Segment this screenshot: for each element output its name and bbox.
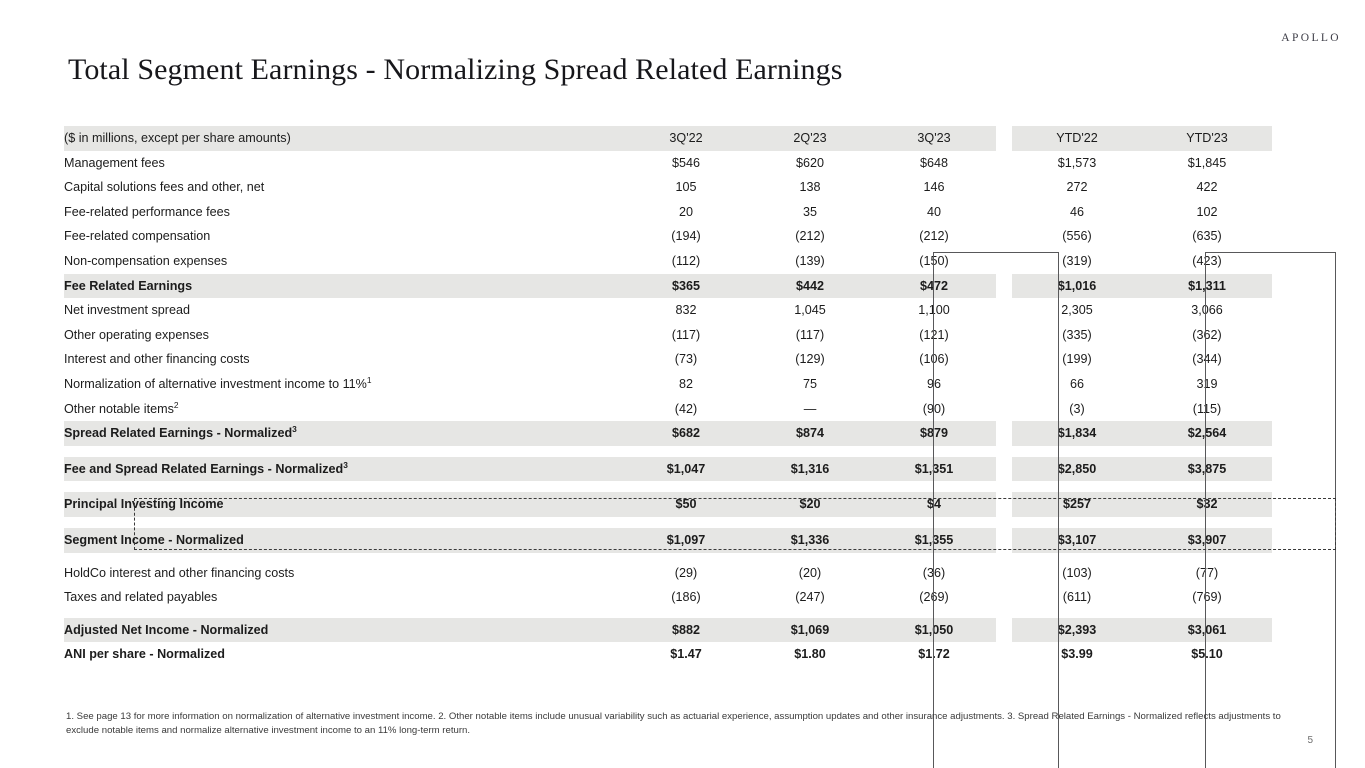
spacer-cell <box>64 446 624 457</box>
cell-ytd23: 319 <box>1142 372 1272 397</box>
spacer-cell <box>64 481 624 492</box>
table-row: Fee and Spread Related Earnings - Normal… <box>64 457 1272 482</box>
column-gap <box>996 528 1012 553</box>
cell-3q23: $472 <box>872 274 996 299</box>
spacer-cell <box>748 481 872 492</box>
row-label: Taxes and related payables <box>64 585 624 610</box>
cell-3q23: $1,050 <box>872 618 996 643</box>
cell-3q22: $546 <box>624 151 748 176</box>
row-label: Fee and Spread Related Earnings - Normal… <box>64 457 624 482</box>
column-gap <box>996 457 1012 482</box>
cell-2q23: 138 <box>748 175 872 200</box>
cell-ytd22: $2,393 <box>1012 618 1142 643</box>
footnote-marker: 2 <box>174 399 179 409</box>
row-label: Non-compensation expenses <box>64 249 624 274</box>
cell-ytd22: 66 <box>1012 372 1142 397</box>
column-gap <box>996 298 1012 323</box>
spacer-cell <box>748 517 872 528</box>
page-title: Total Segment Earnings - Normalizing Spr… <box>68 53 843 87</box>
footnote-marker: 3 <box>292 424 297 434</box>
table-row: Normalization of alternative investment … <box>64 372 1272 397</box>
spacer-cell <box>996 446 1012 457</box>
footnote-marker: 3 <box>343 460 348 470</box>
table-row: Interest and other financing costs(73)(1… <box>64 347 1272 372</box>
cell-3q23: 146 <box>872 175 996 200</box>
row-label: Adjusted Net Income - Normalized <box>64 618 624 643</box>
cell-ytd23: $1,845 <box>1142 151 1272 176</box>
cell-2q23: 75 <box>748 372 872 397</box>
page-number: 5 <box>1307 735 1313 746</box>
cell-3q23: (269) <box>872 585 996 610</box>
spacer-cell <box>624 553 748 561</box>
spacer-cell <box>872 446 996 457</box>
cell-2q23: (139) <box>748 249 872 274</box>
cell-ytd22: 2,305 <box>1012 298 1142 323</box>
cell-ytd22: (103) <box>1012 561 1142 586</box>
row-label: Normalization of alternative investment … <box>64 372 624 397</box>
column-gap <box>996 585 1012 610</box>
cell-ytd22: $1,834 <box>1012 421 1142 446</box>
cell-3q22: $882 <box>624 618 748 643</box>
spacer-cell <box>872 610 996 618</box>
apollo-logo: APOLLO <box>1281 32 1341 44</box>
column-gap <box>996 397 1012 422</box>
cell-3q23: (90) <box>872 397 996 422</box>
cell-3q23: $1.72 <box>872 642 996 667</box>
cell-3q23: $879 <box>872 421 996 446</box>
slide-canvas: APOLLO Total Segment Earnings - Normaliz… <box>0 0 1365 768</box>
spacer-cell <box>872 517 996 528</box>
cell-ytd22: (335) <box>1012 323 1142 348</box>
cell-2q23: $874 <box>748 421 872 446</box>
spacer-cell <box>624 446 748 457</box>
spacer-cell <box>748 446 872 457</box>
row-label: Segment Income - Normalized <box>64 528 624 553</box>
spacer-cell <box>1012 553 1142 561</box>
cell-2q23: (20) <box>748 561 872 586</box>
table-row: Principal Investing Income$50$20$4$257$3… <box>64 492 1272 517</box>
table-row: Spread Related Earnings - Normalized3$68… <box>64 421 1272 446</box>
cell-3q23: (150) <box>872 249 996 274</box>
cell-3q23: 1,100 <box>872 298 996 323</box>
table-row: Fee-related compensation(194)(212)(212)(… <box>64 224 1272 249</box>
cell-3q22: (29) <box>624 561 748 586</box>
column-gap <box>996 323 1012 348</box>
cell-ytd23: (423) <box>1142 249 1272 274</box>
cell-3q23: $648 <box>872 151 996 176</box>
column-gap <box>996 200 1012 225</box>
cell-2q23: (129) <box>748 347 872 372</box>
cell-3q22: $365 <box>624 274 748 299</box>
cell-ytd22: $1,573 <box>1012 151 1142 176</box>
row-spacer <box>64 517 1272 528</box>
cell-ytd23: (344) <box>1142 347 1272 372</box>
cell-2q23: (247) <box>748 585 872 610</box>
cell-3q22: $1,047 <box>624 457 748 482</box>
row-label: Principal Investing Income <box>64 492 624 517</box>
spacer-cell <box>64 517 624 528</box>
row-label: Other operating expenses <box>64 323 624 348</box>
cell-ytd22: $257 <box>1012 492 1142 517</box>
cell-3q23: (36) <box>872 561 996 586</box>
cell-3q22: (42) <box>624 397 748 422</box>
column-gap <box>996 561 1012 586</box>
table-row: Segment Income - Normalized$1,097$1,336$… <box>64 528 1272 553</box>
cell-3q22: (73) <box>624 347 748 372</box>
column-gap <box>996 347 1012 372</box>
table-row: Net investment spread8321,0451,1002,3053… <box>64 298 1272 323</box>
column-gap <box>996 126 1012 151</box>
row-label: Fee-related compensation <box>64 224 624 249</box>
spacer-cell <box>1142 610 1272 618</box>
spacer-cell <box>996 517 1012 528</box>
footnote-marker: 1 <box>367 375 372 385</box>
column-gap <box>996 249 1012 274</box>
cell-2q23: (117) <box>748 323 872 348</box>
cell-ytd23: (362) <box>1142 323 1272 348</box>
table-body: ($ in millions, except per share amounts… <box>64 126 1272 667</box>
spacer-cell <box>64 553 624 561</box>
spacer-cell <box>1012 610 1142 618</box>
cell-ytd22: YTD'22 <box>1012 126 1142 151</box>
row-label: HoldCo interest and other financing cost… <box>64 561 624 586</box>
row-label: Interest and other financing costs <box>64 347 624 372</box>
cell-ytd23: (769) <box>1142 585 1272 610</box>
cell-ytd23: 102 <box>1142 200 1272 225</box>
spacer-cell <box>996 553 1012 561</box>
column-gap <box>996 224 1012 249</box>
row-label: Fee Related Earnings <box>64 274 624 299</box>
cell-ytd23: (635) <box>1142 224 1272 249</box>
cell-3q22: (112) <box>624 249 748 274</box>
spacer-cell <box>872 481 996 492</box>
table-row: Management fees$546$620$648$1,573$1,845 <box>64 151 1272 176</box>
spacer-cell <box>996 610 1012 618</box>
cell-ytd22: 46 <box>1012 200 1142 225</box>
cell-3q23: (212) <box>872 224 996 249</box>
cell-2q23: $1,316 <box>748 457 872 482</box>
financial-table-container: ($ in millions, except per share amounts… <box>64 126 1272 667</box>
cell-ytd22: (611) <box>1012 585 1142 610</box>
cell-ytd22: $2,850 <box>1012 457 1142 482</box>
cell-ytd23: YTD'23 <box>1142 126 1272 151</box>
cell-3q23: 40 <box>872 200 996 225</box>
table-row: Fee Related Earnings$365$442$472$1,016$1… <box>64 274 1272 299</box>
spacer-cell <box>1012 481 1142 492</box>
row-label: Capital solutions fees and other, net <box>64 175 624 200</box>
column-gap <box>996 421 1012 446</box>
cell-2q23: $620 <box>748 151 872 176</box>
spacer-cell <box>1142 481 1272 492</box>
table-row: Non-compensation expenses(112)(139)(150)… <box>64 249 1272 274</box>
spacer-cell <box>624 481 748 492</box>
cell-3q22: (186) <box>624 585 748 610</box>
cell-2q23: $20 <box>748 492 872 517</box>
cell-ytd23: 422 <box>1142 175 1272 200</box>
cell-3q22: $1,097 <box>624 528 748 553</box>
cell-2q23: $1,069 <box>748 618 872 643</box>
cell-ytd23: $3,061 <box>1142 618 1272 643</box>
cell-3q22: 832 <box>624 298 748 323</box>
cell-3q22: 105 <box>624 175 748 200</box>
row-label: ($ in millions, except per share amounts… <box>64 126 624 151</box>
cell-3q22: $1.47 <box>624 642 748 667</box>
cell-3q22: (117) <box>624 323 748 348</box>
cell-ytd23: (77) <box>1142 561 1272 586</box>
cell-3q22: $50 <box>624 492 748 517</box>
cell-3q23: $4 <box>872 492 996 517</box>
cell-ytd23: $2,564 <box>1142 421 1272 446</box>
cell-3q22: $682 <box>624 421 748 446</box>
cell-3q23: 96 <box>872 372 996 397</box>
cell-3q23: (106) <box>872 347 996 372</box>
cell-ytd22: 272 <box>1012 175 1142 200</box>
row-label: Other notable items2 <box>64 397 624 422</box>
spacer-cell <box>872 553 996 561</box>
cell-3q22: 82 <box>624 372 748 397</box>
cell-3q23: 3Q'23 <box>872 126 996 151</box>
spacer-cell <box>64 610 624 618</box>
cell-2q23: — <box>748 397 872 422</box>
cell-ytd22: $3,107 <box>1012 528 1142 553</box>
spacer-cell <box>624 517 748 528</box>
row-spacer <box>64 553 1272 561</box>
column-gap <box>996 151 1012 176</box>
row-label: Fee-related performance fees <box>64 200 624 225</box>
row-spacer <box>64 610 1272 618</box>
cell-2q23: 2Q'23 <box>748 126 872 151</box>
table-row: Fee-related performance fees20354046102 <box>64 200 1272 225</box>
column-gap <box>996 274 1012 299</box>
row-label: Management fees <box>64 151 624 176</box>
cell-ytd22: (319) <box>1012 249 1142 274</box>
row-label: ANI per share - Normalized <box>64 642 624 667</box>
table-row: Adjusted Net Income - Normalized$882$1,0… <box>64 618 1272 643</box>
cell-ytd23: $5.10 <box>1142 642 1272 667</box>
column-gap <box>996 618 1012 643</box>
row-spacer <box>64 481 1272 492</box>
cell-ytd22: (199) <box>1012 347 1142 372</box>
row-label: Net investment spread <box>64 298 624 323</box>
table-row: Capital solutions fees and other, net105… <box>64 175 1272 200</box>
spacer-cell <box>624 610 748 618</box>
spacer-cell <box>1142 553 1272 561</box>
cell-2q23: $1.80 <box>748 642 872 667</box>
table-header-row: ($ in millions, except per share amounts… <box>64 126 1272 151</box>
column-gap <box>996 492 1012 517</box>
cell-3q23: (121) <box>872 323 996 348</box>
cell-ytd22: (3) <box>1012 397 1142 422</box>
table-row: Taxes and related payables(186)(247)(269… <box>64 585 1272 610</box>
cell-ytd23: $32 <box>1142 492 1272 517</box>
cell-ytd22: $3.99 <box>1012 642 1142 667</box>
spacer-cell <box>996 481 1012 492</box>
cell-3q22: 20 <box>624 200 748 225</box>
cell-ytd23: $3,907 <box>1142 528 1272 553</box>
table-row: Other operating expenses(117)(117)(121)(… <box>64 323 1272 348</box>
cell-ytd23: $1,311 <box>1142 274 1272 299</box>
cell-2q23: $1,336 <box>748 528 872 553</box>
cell-3q23: $1,351 <box>872 457 996 482</box>
row-spacer <box>64 446 1272 457</box>
spacer-cell <box>1012 517 1142 528</box>
cell-3q22: 3Q'22 <box>624 126 748 151</box>
cell-3q23: $1,355 <box>872 528 996 553</box>
spacer-cell <box>1142 517 1272 528</box>
footnotes: 1. See page 13 for more information on n… <box>66 710 1286 737</box>
column-gap <box>996 372 1012 397</box>
cell-ytd22: (556) <box>1012 224 1142 249</box>
cell-2q23: $442 <box>748 274 872 299</box>
cell-ytd23: 3,066 <box>1142 298 1272 323</box>
table-row: HoldCo interest and other financing cost… <box>64 561 1272 586</box>
table-row: ANI per share - Normalized$1.47$1.80$1.7… <box>64 642 1272 667</box>
spacer-cell <box>1012 446 1142 457</box>
spacer-cell <box>1142 446 1272 457</box>
column-gap <box>996 642 1012 667</box>
cell-2q23: 1,045 <box>748 298 872 323</box>
spacer-cell <box>748 553 872 561</box>
cell-ytd22: $1,016 <box>1012 274 1142 299</box>
cell-3q22: (194) <box>624 224 748 249</box>
cell-ytd23: (115) <box>1142 397 1272 422</box>
table-row: Other notable items2(42)—(90)(3)(115) <box>64 397 1272 422</box>
row-label: Spread Related Earnings - Normalized3 <box>64 421 624 446</box>
cell-2q23: (212) <box>748 224 872 249</box>
financial-table: ($ in millions, except per share amounts… <box>64 126 1272 667</box>
spacer-cell <box>748 610 872 618</box>
cell-ytd23: $3,875 <box>1142 457 1272 482</box>
column-gap <box>996 175 1012 200</box>
cell-2q23: 35 <box>748 200 872 225</box>
